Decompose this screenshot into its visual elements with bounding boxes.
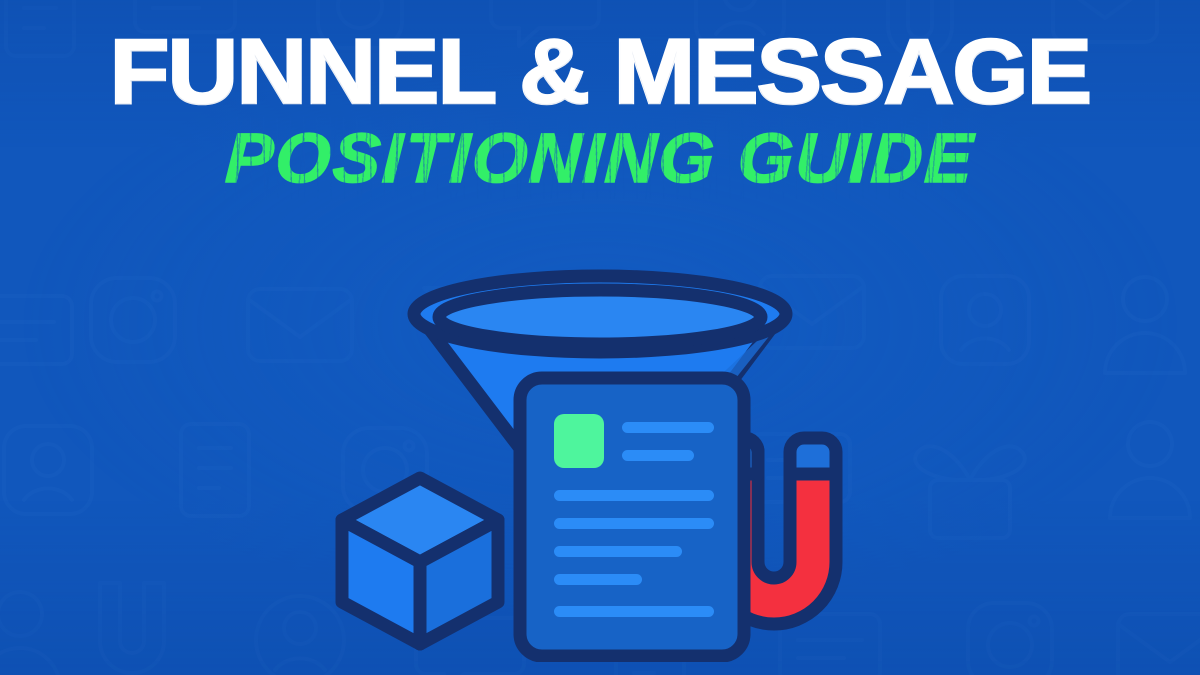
- card-body-line: [554, 606, 714, 617]
- card-header-line: [622, 450, 694, 461]
- card-body-line: [554, 574, 642, 585]
- card-body-line: [554, 490, 714, 501]
- page-title: FUNNEL & MESSAGE: [0, 28, 1200, 117]
- page-subtitle: POSITIONING GUIDE: [224, 123, 977, 193]
- poster-canvas: FUNNEL & MESSAGE POSITIONING GUIDE: [0, 0, 1200, 675]
- headline-block: FUNNEL & MESSAGE POSITIONING GUIDE: [0, 28, 1200, 193]
- cube-icon: [342, 478, 498, 644]
- hero-illustration: [0, 262, 1200, 662]
- card-body-line: [554, 518, 714, 529]
- subtitle-wrapper: POSITIONING GUIDE: [0, 123, 1200, 193]
- card-accent-square: [554, 414, 604, 468]
- card-header-line: [622, 422, 714, 433]
- card-body-line: [554, 546, 682, 557]
- document-card-icon: [520, 378, 744, 656]
